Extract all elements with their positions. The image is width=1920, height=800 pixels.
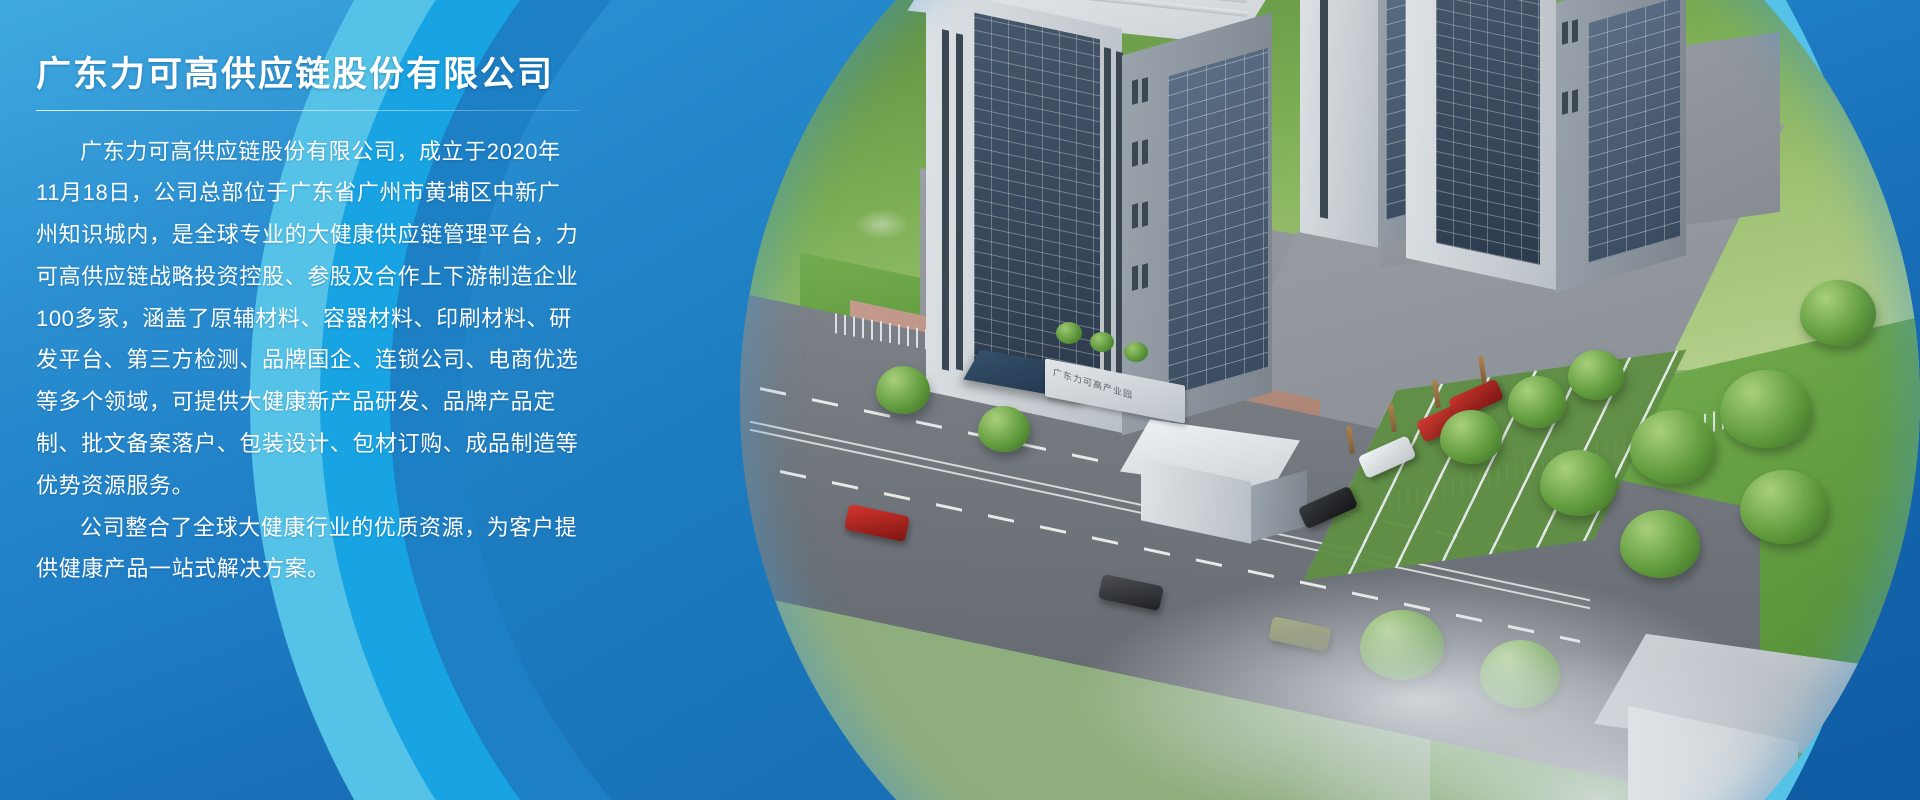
tower-side-window-2 bbox=[1142, 77, 1148, 103]
atmospheric-haze-2 bbox=[1280, 650, 1920, 800]
tree-cluster-2 bbox=[1508, 376, 1566, 428]
tower-side-window-3 bbox=[1132, 141, 1138, 167]
tower-side-window-4 bbox=[1142, 139, 1148, 165]
shrub-median-3 bbox=[1124, 342, 1148, 362]
tree-cluster-4 bbox=[1540, 450, 1616, 516]
tower-side-glass bbox=[1168, 48, 1268, 397]
tree-cluster-5 bbox=[1630, 410, 1716, 484]
tower-side-window-6 bbox=[1142, 201, 1148, 227]
tower-side-window-1 bbox=[1132, 79, 1138, 105]
company-description: 广东力可高供应链股份有限公司，成立于2020年11月18日，公司总部位于广东省广… bbox=[36, 131, 580, 591]
company-intro-panel: 广东力可高供应链股份有限公司 广东力可高供应链股份有限公司，成立于2020年11… bbox=[0, 0, 620, 800]
tower-curtain-wall bbox=[974, 13, 1100, 396]
connector-front bbox=[1300, 0, 1378, 248]
second-block-glass-front bbox=[1436, 0, 1540, 265]
connector-window-strip bbox=[1320, 0, 1328, 219]
shrub-median-2 bbox=[1090, 332, 1114, 352]
company-description-paragraph-1: 广东力可高供应链股份有限公司，成立于2020年11月18日，公司总部位于广东省广… bbox=[36, 131, 580, 507]
tower-side-window-7 bbox=[1132, 265, 1138, 291]
tower-facade-slot-3 bbox=[1104, 47, 1111, 378]
tree-cluster-6 bbox=[1720, 370, 1812, 448]
page-title: 广东力可高供应链股份有限公司 bbox=[36, 52, 580, 98]
tower-facade-slot-2 bbox=[956, 33, 963, 370]
tower-side-window-5 bbox=[1132, 203, 1138, 229]
company-description-paragraph-2: 公司整合了全球大健康行业的优质资源，为客户提供健康产品一站式解决方案。 bbox=[36, 507, 580, 591]
tree-sidewalk-1 bbox=[876, 366, 930, 414]
title-divider bbox=[36, 110, 580, 111]
tree-cluster-3 bbox=[1568, 350, 1624, 400]
second-block-slot-4 bbox=[1572, 89, 1578, 113]
second-block-slot-2 bbox=[1572, 19, 1578, 43]
industrial-park-photo: 广东力可高产业园 bbox=[740, 0, 1920, 800]
building-utility-low bbox=[1135, 430, 1325, 550]
building-second-block bbox=[1400, 0, 1740, 306]
tree-sidewalk-2 bbox=[978, 406, 1030, 452]
tree-cluster-9 bbox=[1800, 280, 1876, 346]
photo-scene: 广东力可高产业园 bbox=[740, 0, 1920, 800]
second-block-glass-side bbox=[1588, 0, 1680, 263]
second-block-slot-1 bbox=[1562, 21, 1568, 45]
tree-cluster-8 bbox=[1740, 470, 1828, 544]
tower-side-window-8 bbox=[1142, 263, 1148, 289]
second-block-slot-3 bbox=[1562, 91, 1568, 115]
tree-cluster-1 bbox=[1440, 410, 1502, 464]
tower-facade-slot-1 bbox=[942, 29, 949, 370]
shrub-median-1 bbox=[1056, 322, 1082, 344]
hero-banner: 广东力可高产业园 广东力可高供应链股份有限公司 广东力可高供应链股份有限公司，成… bbox=[0, 0, 1920, 800]
tree-cluster-7 bbox=[1620, 510, 1700, 578]
